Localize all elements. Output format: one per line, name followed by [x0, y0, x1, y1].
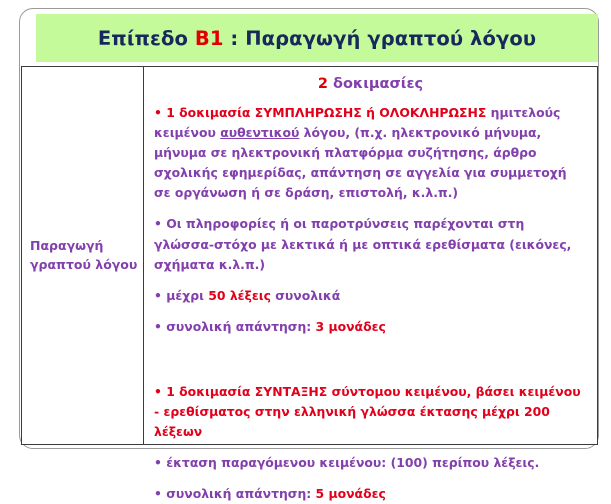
tasks-count-label: δοκιμασίες [328, 76, 423, 92]
task-two-bullet-1: • 1 δοκιμασία ΣΥΝΤΑΞΗΣ σύντομου κειμένου… [154, 382, 587, 442]
task-one-bullet-4: • συνολική απάντηση: 3 μονάδες [154, 317, 587, 337]
title-level-badge: B1 [195, 27, 224, 50]
tasks-count-number: 2 [318, 76, 328, 92]
task-one-bullet-3: • μέχρι 50 λέξεις συνολικά [154, 286, 587, 306]
task-one-score-value: 3 μονάδες [316, 319, 386, 334]
title-prefix: Επίπεδο [98, 27, 195, 50]
table-row-label-cell: Παραγωγή γραπτού λόγου [22, 67, 144, 444]
table-content-cell: 2 δοκιμασίες • 1 δοκιμασία ΣΥΜΠΛΗΡΩΣΗΣ ή… [144, 67, 597, 444]
page-title: Επίπεδο B1 : Παραγωγή γραπτού λόγου [98, 27, 536, 50]
task-one-wordlimit-lead: • μέχρι [154, 288, 208, 303]
task-one-wordlimit-value: 50 λέξεις [208, 288, 275, 303]
bullet-marker-icon: • [154, 105, 166, 120]
task-one-wordlimit-tail: συνολικά [275, 288, 340, 303]
title-banner: Επίπεδο B1 : Παραγωγή γραπτού λόγου [36, 14, 598, 62]
skills-table: Παραγωγή γραπτού λόγου 2 δοκιμασίες • 1 … [21, 66, 598, 445]
row-label-text: Παραγωγή γραπτού λόγου [30, 237, 143, 275]
title-suffix: : Παραγωγή γραπτού λόγου [224, 27, 537, 50]
task-one-score-lead: • συνολική απάντηση: [154, 319, 316, 334]
tasks-count-heading: 2 δοκιμασίες [154, 76, 587, 92]
task-one-type: 1 δοκιμασία ΣΥΜΠΛΗΡΩΣΗΣ ή ΟΛΟΚΛΗΡΩΣΗΣ [166, 105, 490, 120]
task-one-bullet-2: • Οι πληροφορίες ή οι παροτρύνσεις παρέχ… [154, 214, 587, 274]
section-spacer [154, 348, 587, 382]
task-two-bullet-3: • συνολική απάντηση: 5 μονάδες [154, 484, 587, 504]
task-two-score-lead: • συνολική απάντηση: [154, 486, 316, 501]
task-one-bullet-1: • 1 δοκιμασία ΣΥΜΠΛΗΡΩΣΗΣ ή ΟΛΟΚΛΗΡΩΣΗΣ … [154, 103, 587, 203]
task-two-bullet-2: • έκταση παραγόμενου κειμένου: (100) περ… [154, 453, 587, 473]
task-one-emphasis: αυθεντικού [220, 125, 299, 140]
task-two-score-value: 5 μονάδες [316, 486, 386, 501]
